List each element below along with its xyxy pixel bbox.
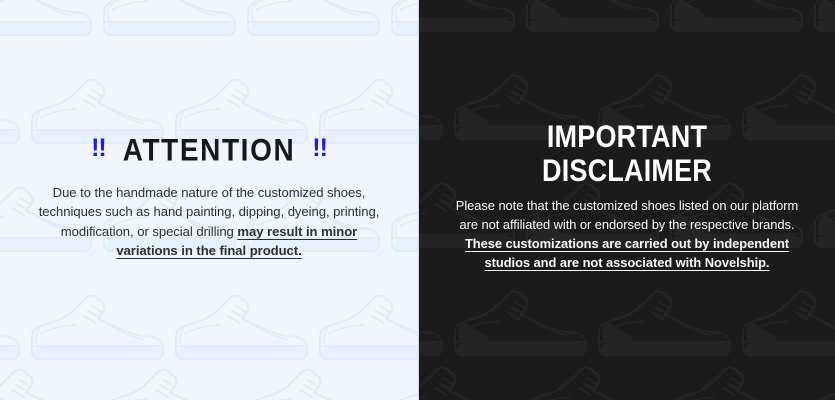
disclaimer-body-text: Please note that the customized shoes li… [447,196,807,273]
disclaimer-heading-line2: DISCLAIMER [447,154,807,188]
customization-disclaimer-banner: !! ATTENTION !! Due to the handmade natu… [0,0,835,400]
panel-divider [418,0,419,400]
disclaimer-heading: IMPORTANT DISCLAIMER [447,120,807,188]
attention-bang-left: !! [91,136,106,161]
attention-heading-word: ATTENTION [123,134,296,166]
disclaimer-content: IMPORTANT DISCLAIMER Please note that th… [419,120,835,273]
attention-content: !! ATTENTION !! Due to the handmade natu… [0,136,418,261]
attention-body-text: Due to the handmade nature of the custom… [34,183,384,261]
attention-heading: !! ATTENTION !! [34,136,384,164]
disclaimer-body-plain: Please note that the customized shoes li… [456,198,798,232]
attention-bang-right: !! [312,136,327,161]
disclaimer-panel: IMPORTANT DISCLAIMER Please note that th… [419,0,835,400]
attention-panel: !! ATTENTION !! Due to the handmade natu… [0,0,418,400]
disclaimer-body-emphasis: These customizations are carried out by … [465,236,789,270]
disclaimer-heading-line1: IMPORTANT [447,120,807,154]
